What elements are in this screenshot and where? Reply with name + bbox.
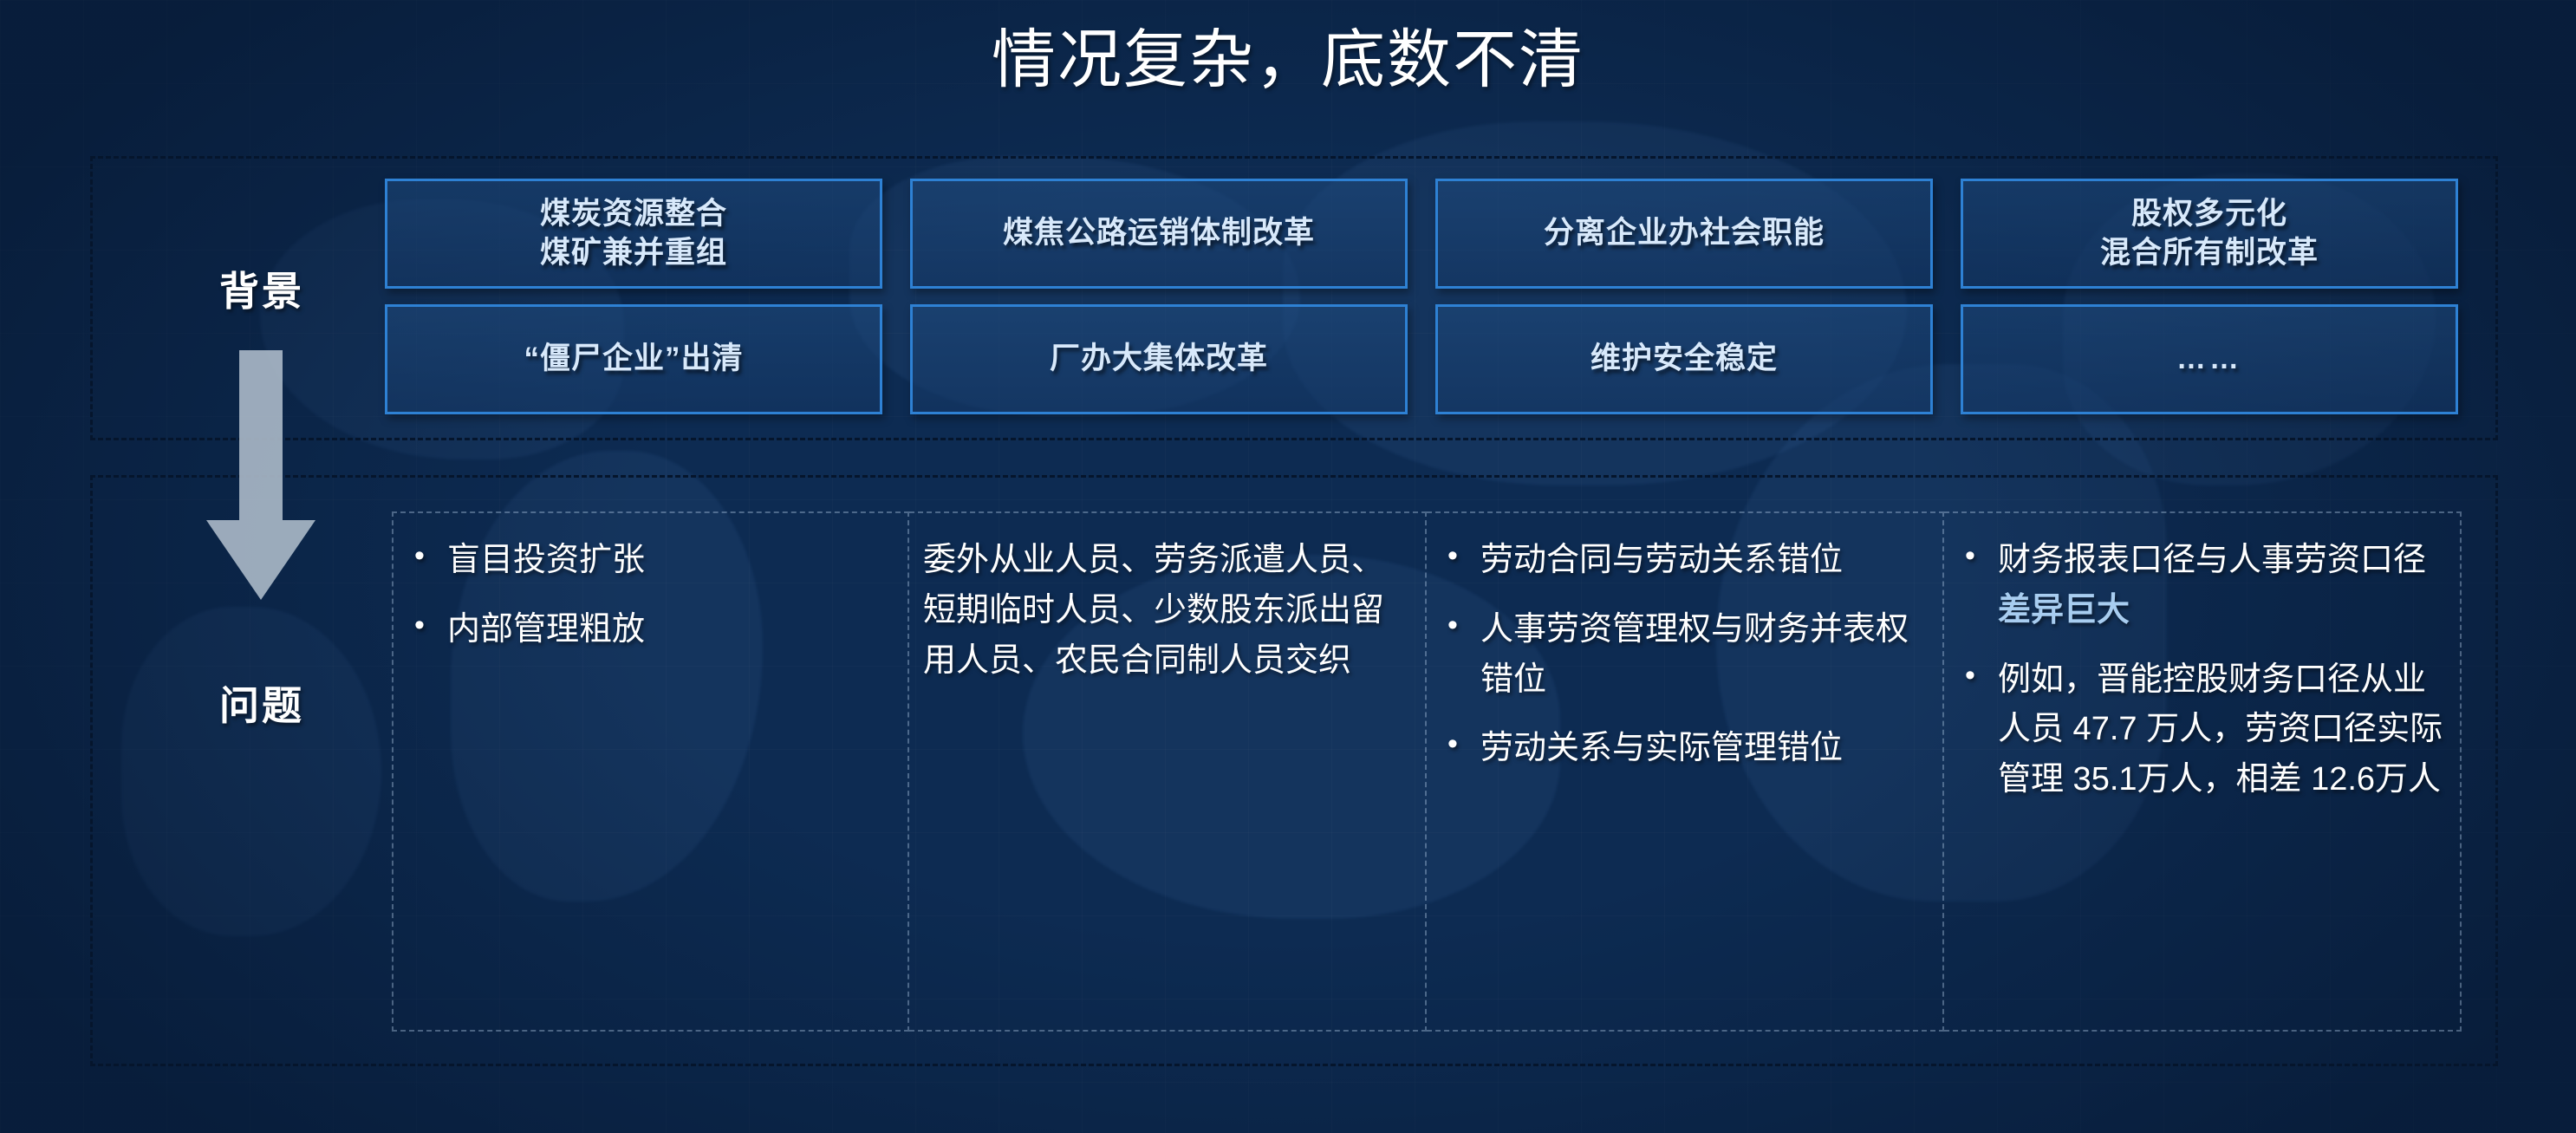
background-card-text: 煤炭资源整合 煤矿兼并重组 (540, 195, 727, 273)
background-card-5[interactable]: 厂办大集体改革 (910, 304, 1408, 414)
problem-column-2: 劳动合同与劳动关系错位 人事劳资管理权与财务并表权错位 劳动关系与实际管理错位 (1427, 511, 1944, 1032)
problem-section-label: 问题 (184, 674, 340, 732)
list-item: 财务报表口径与人事劳资口径差异巨大 (1998, 536, 2446, 636)
slide-root: 情况复杂，底数不清 背景 问题 煤炭资源整合 煤矿兼并重组 煤焦公路运销体制改革… (0, 0, 2576, 1133)
background-section-label: 背景 (184, 260, 340, 317)
list-item: 人事劳资管理权与财务并表权错位 (1480, 605, 1929, 706)
background-card-4[interactable]: “僵尸企业”出清 (385, 304, 882, 414)
background-card-text: 煤焦公路运销体制改革 (1003, 214, 1315, 253)
background-card-text: …… (2176, 341, 2242, 379)
down-arrow-icon (205, 350, 317, 602)
problem-columns-grid: 盲目投资扩张 内部管理粗放 委外从业人员、劳务派遣人员、短期临时人员、少数股东派… (392, 511, 2462, 1032)
list-item: 盲目投资扩张 (447, 536, 894, 586)
problem-list: 盲目投资扩张 内部管理粗放 (407, 536, 894, 655)
problem-paragraph: 委外从业人员、劳务派遣人员、短期临时人员、少数股东派出留用人员、农民合同制人员交… (923, 536, 1411, 686)
background-card-0[interactable]: 煤炭资源整合 煤矿兼并重组 (385, 179, 882, 289)
background-card-text: 股权多元化 混合所有制改革 (2100, 195, 2319, 273)
problem-list: 财务报表口径与人事劳资口径差异巨大 例如，晋能控股财务口径从业人员 47.7 万… (1958, 536, 2446, 805)
background-card-2[interactable]: 分离企业办社会职能 (1435, 179, 1933, 289)
background-card-text: 维护安全稳定 (1590, 340, 1778, 379)
background-card-3[interactable]: 股权多元化 混合所有制改革 (1961, 179, 2458, 289)
background-card-text: 厂办大集体改革 (1050, 340, 1268, 379)
list-item: 劳动关系与实际管理错位 (1480, 724, 1929, 774)
list-item-text: 财务报表口径与人事劳资口径 (1998, 542, 2426, 578)
page-title: 情况复杂，底数不清 (0, 24, 2576, 94)
background-card-7[interactable]: …… (1961, 304, 2458, 414)
list-item: 内部管理粗放 (447, 605, 894, 655)
problem-column-3: 财务报表口径与人事劳资口径差异巨大 例如，晋能控股财务口径从业人员 47.7 万… (1944, 511, 2462, 1032)
problem-list: 劳动合同与劳动关系错位 人事劳资管理权与财务并表权错位 劳动关系与实际管理错位 (1441, 536, 1929, 774)
background-card-text: 分离企业办社会职能 (1544, 214, 1825, 253)
list-item: 劳动合同与劳动关系错位 (1480, 536, 1929, 586)
highlight-text: 差异巨大 (1998, 592, 2130, 628)
background-cards-grid: 煤炭资源整合 煤矿兼并重组 煤焦公路运销体制改革 分离企业办社会职能 股权多元化… (385, 179, 2458, 414)
background-card-1[interactable]: 煤焦公路运销体制改革 (910, 179, 1408, 289)
list-item-text: 例如，晋能控股财务口径从业人员 47.7 万人，劳资口径实际管理 35.1万人，… (1998, 661, 2443, 798)
list-item: 例如，晋能控股财务口径从业人员 47.7 万人，劳资口径实际管理 35.1万人，… (1998, 655, 2446, 805)
background-card-text: “僵尸企业”出清 (524, 340, 743, 379)
problem-column-1: 委外从业人员、劳务派遣人员、短期临时人员、少数股东派出留用人员、农民合同制人员交… (909, 511, 1427, 1032)
problem-column-0: 盲目投资扩张 内部管理粗放 (392, 511, 909, 1032)
background-card-6[interactable]: 维护安全稳定 (1435, 304, 1933, 414)
